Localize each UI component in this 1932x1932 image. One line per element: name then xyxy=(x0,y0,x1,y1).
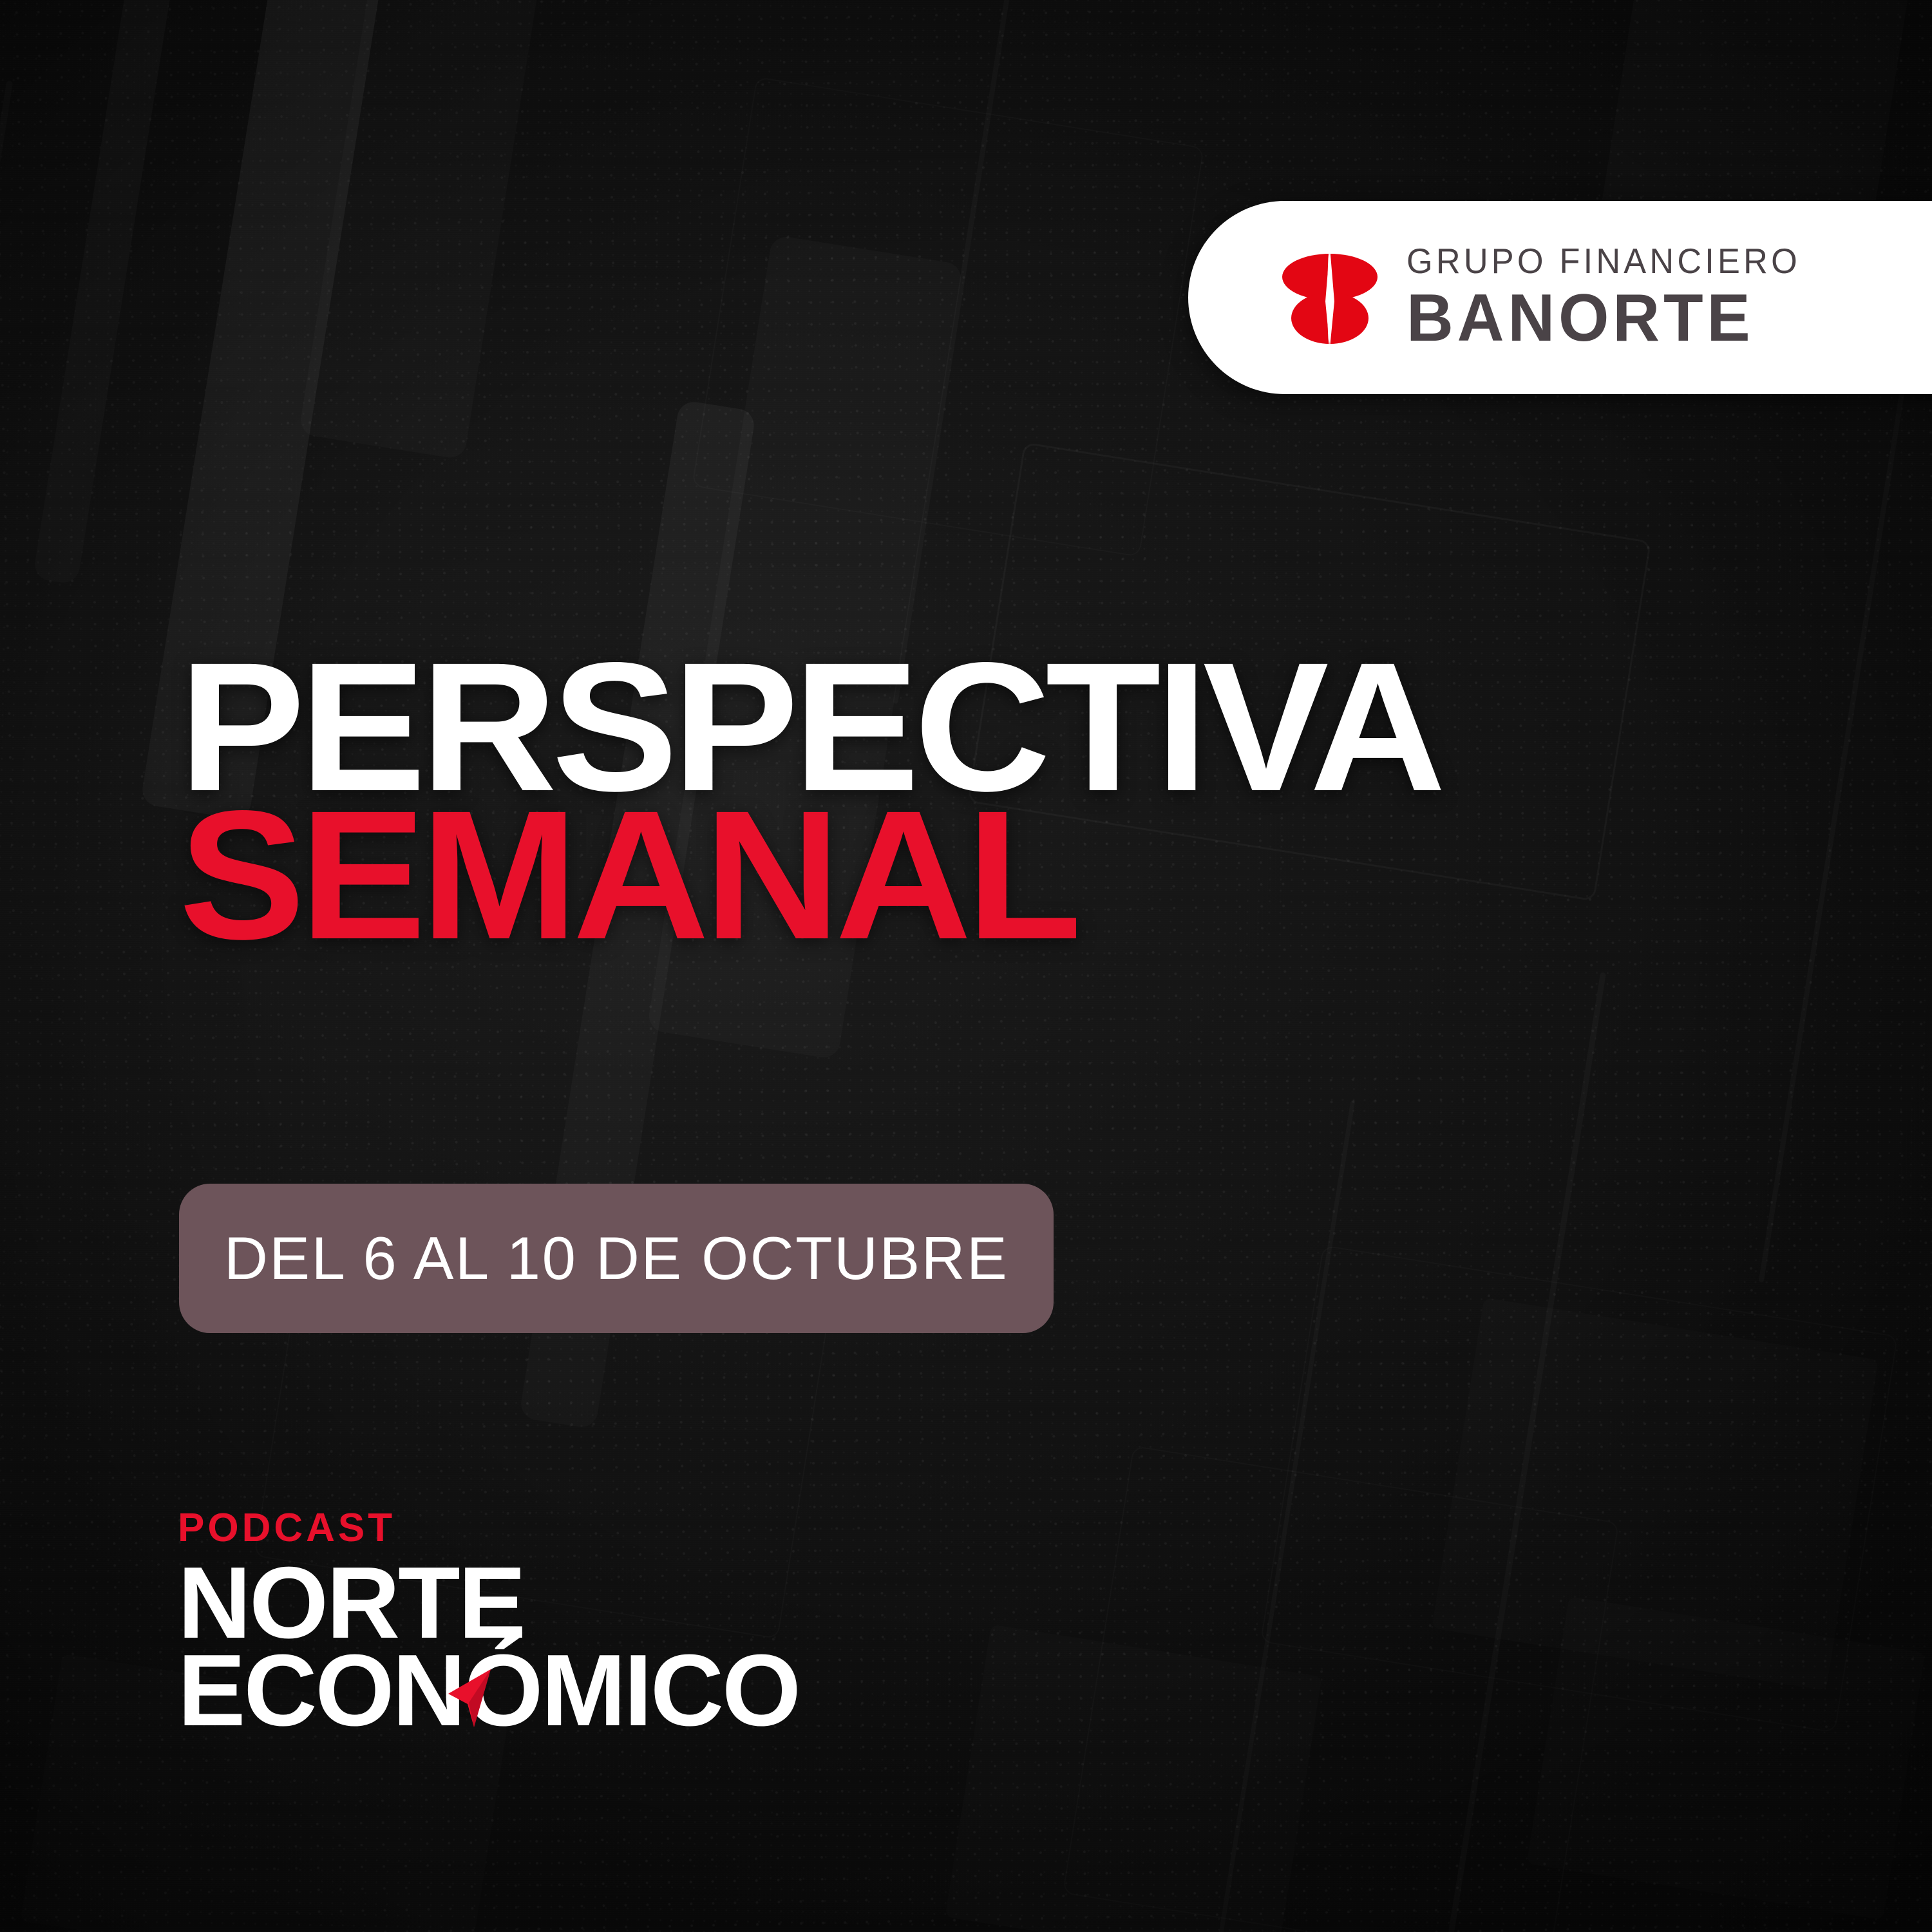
bg-outline-rect xyxy=(692,77,1204,557)
bg-slash xyxy=(0,80,13,654)
bg-panel xyxy=(1527,1596,1926,1920)
banorte-logo-badge: GRUPO FINANCIERO BANORTE xyxy=(1188,201,1932,394)
date-range-pill: DEL 6 AL 10 DE OCTUBRE xyxy=(179,1184,1054,1333)
banorte-line-grupo-financiero: GRUPO FINANCIERO xyxy=(1406,243,1801,279)
red-arrow-accent-icon xyxy=(444,1668,498,1735)
title-line-perspectiva: PERSPECTIVA xyxy=(179,649,1904,806)
bg-panel xyxy=(945,1624,1322,1932)
podcast-kicker-label: PODCAST xyxy=(178,1508,799,1548)
banorte-butterfly-mark xyxy=(1282,246,1378,349)
poster-title: PERSPECTIVA SEMANAL xyxy=(179,649,1853,954)
date-range-label: DEL 6 AL 10 DE OCTUBRE xyxy=(224,1224,1009,1293)
bg-bar xyxy=(32,0,193,585)
podcast-logo: PODCAST NORTE ECONÓMICO xyxy=(178,1508,799,1735)
podcast-name-lockup: NORTE ECONÓMICO xyxy=(178,1560,799,1735)
banorte-line-banorte: BANORTE xyxy=(1406,285,1809,352)
banorte-wordmark: GRUPO FINANCIERO BANORTE xyxy=(1406,243,1821,352)
podcast-cover-poster: GRUPO FINANCIERO BANORTE PERSPECTIVA SEM… xyxy=(0,0,1932,1932)
